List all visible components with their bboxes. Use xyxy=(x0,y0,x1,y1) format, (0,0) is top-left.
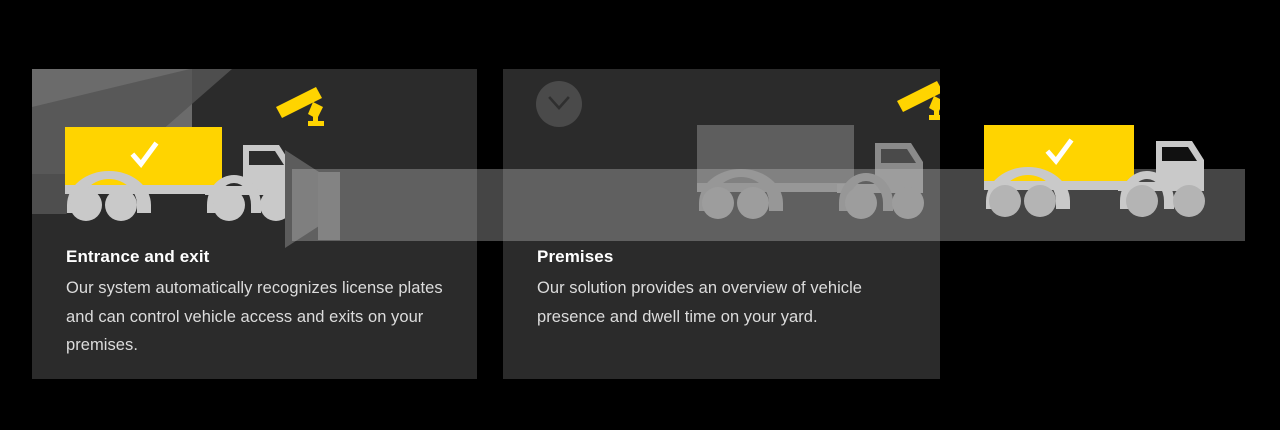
wheel-rear-2 xyxy=(1024,185,1056,217)
clock-icon xyxy=(536,81,582,127)
card-1-title: Entrance and exit xyxy=(66,247,459,267)
wheel-front xyxy=(213,189,245,221)
card-1-text-block: Entrance and exit Our system automatical… xyxy=(66,247,459,360)
wheel-rear-2 xyxy=(105,189,137,221)
truck-approved xyxy=(65,127,305,221)
infographic-stage: Entrance and exit Our system automatical… xyxy=(0,0,1280,430)
card-2-text-block: Premises Our solution provides an overvi… xyxy=(537,247,922,331)
wheel-front xyxy=(1126,185,1158,217)
truck-exit-approved xyxy=(984,125,1224,219)
card-2-title: Premises xyxy=(537,247,922,267)
wheel-rear-1 xyxy=(989,185,1021,217)
card-2-description: Our solution provides an overview of veh… xyxy=(537,274,922,331)
wheel-rear-1 xyxy=(70,189,102,221)
wheel-front-2 xyxy=(1173,185,1205,217)
security-camera-icon xyxy=(893,77,940,128)
card-1-description: Our system automatically recognizes lice… xyxy=(66,274,459,359)
